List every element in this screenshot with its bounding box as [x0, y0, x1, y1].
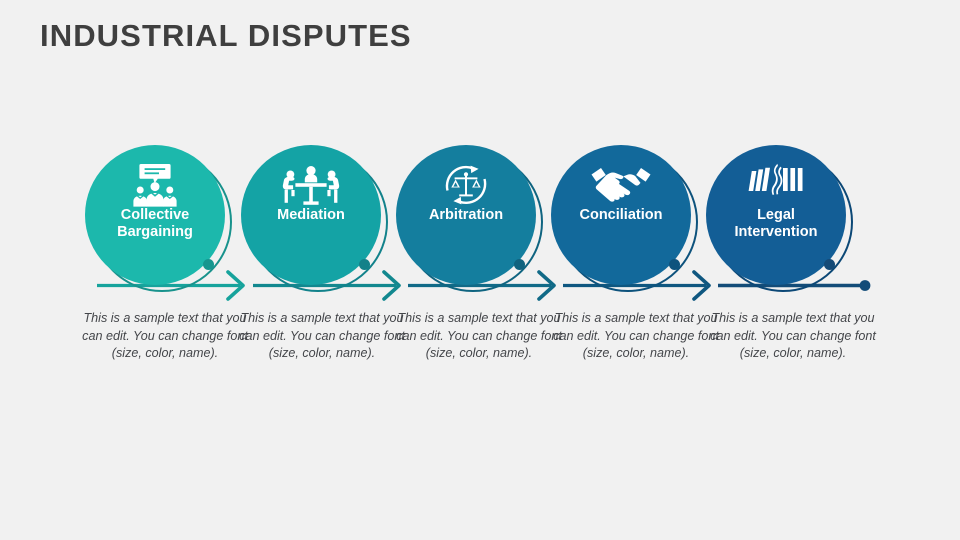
- people-speech-bubble-icon: [85, 163, 225, 207]
- stage-dot-4: [669, 259, 680, 270]
- stage-node-2[interactable]: Mediation: [241, 145, 389, 293]
- stage-description-2: This is a sample text that you can edit.…: [237, 310, 407, 363]
- stage-label-5-line1: Legal: [700, 207, 852, 224]
- stage-description-3: This is a sample text that you can edit.…: [394, 310, 564, 363]
- stage-dot-5: [824, 259, 835, 270]
- stage-description-1: This is a sample text that you can edit.…: [80, 310, 250, 363]
- law-pillars-flame-icon: [706, 163, 846, 199]
- stage-node-1[interactable]: Collective Bargaining: [85, 145, 233, 293]
- stage-description-4: This is a sample text that you can edit.…: [551, 310, 721, 363]
- stage-label-2-line1: Mediation: [235, 207, 387, 224]
- stage-node-4[interactable]: Conciliation: [551, 145, 699, 293]
- stage-label-4: Conciliation: [545, 207, 697, 224]
- stage-label-3: Arbitration: [390, 207, 542, 224]
- stage-label-3-line1: Arbitration: [390, 207, 542, 224]
- slide-canvas: INDUSTRIAL DISPUTES: [0, 0, 960, 540]
- stage-dot-1: [203, 259, 214, 270]
- stage-label-5-line2: Intervention: [700, 224, 852, 241]
- stage-node-5[interactable]: Legal Intervention: [706, 145, 854, 293]
- stage-dot-3: [514, 259, 525, 270]
- meeting-table-icon: [241, 163, 381, 207]
- stage-label-2: Mediation: [235, 207, 387, 224]
- stage-label-1-line1: Collective: [79, 207, 231, 224]
- justice-scales-refresh-icon: [396, 163, 536, 207]
- stage-label-1-line2: Bargaining: [79, 224, 231, 241]
- stage-label-1: Collective Bargaining: [79, 207, 231, 241]
- stage-dot-2: [359, 259, 370, 270]
- stage-label-5: Legal Intervention: [700, 207, 852, 241]
- handshake-icon: [551, 163, 691, 203]
- stage-node-3[interactable]: Arbitration: [396, 145, 544, 293]
- stage-description-5: This is a sample text that you can edit.…: [708, 310, 878, 363]
- stage-label-4-line1: Conciliation: [545, 207, 697, 224]
